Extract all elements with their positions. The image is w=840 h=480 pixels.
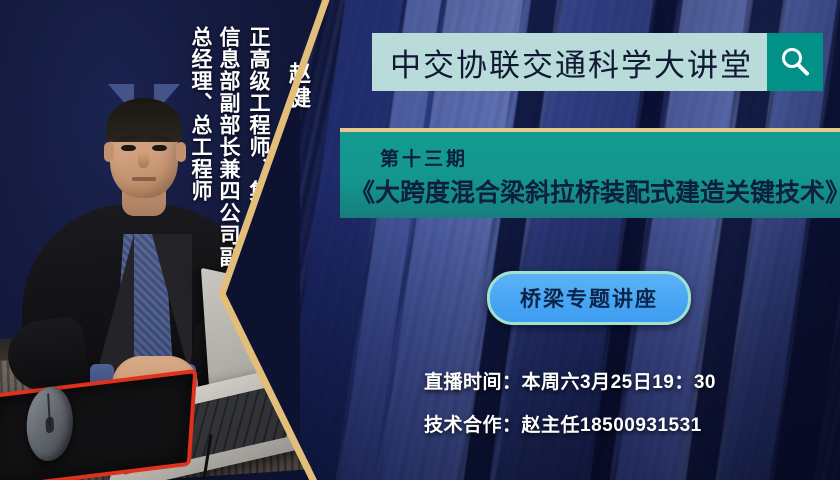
lecture-title-bar: 中交协联交通科学大讲堂 — [372, 33, 823, 91]
lecture-subtitle-box: 第十三期 《大跨度混合梁斜拉桥装配式建造关键技术》 — [340, 128, 840, 218]
mouse-wheel-icon — [45, 416, 54, 434]
ear-left — [104, 142, 114, 162]
lecture-poster: 总经理、总工程师 信息部副部长兼四公司副 正高级工程师、集团科技 赵健 中交协联… — [0, 0, 840, 480]
speaker-title-line-1: 正高级工程师、集团科技 — [243, 26, 273, 268]
nose — [138, 152, 149, 168]
search-icon[interactable] — [767, 33, 823, 91]
mouth — [132, 177, 156, 181]
speaker-name: 赵健 — [282, 62, 314, 110]
eye-left — [121, 145, 136, 151]
speaker-panel: 总经理、总工程师 信息部副部长兼四公司副 正高级工程师、集团科技 — [0, 0, 318, 480]
contact-text: 技术合作：赵主任18500931531 — [424, 410, 702, 437]
computer-mouse — [25, 382, 75, 466]
live-time-text: 直播时间：本周六3月25日19：30 — [424, 367, 716, 394]
lecture-title: 中交协联交通科学大讲堂 — [372, 33, 767, 91]
eye-right — [152, 145, 167, 151]
speaker-title-line-3: 总经理、总工程师 — [185, 26, 215, 202]
lecture-issue-number: 第十三期 — [380, 144, 840, 171]
lecture-topic: 《大跨度混合梁斜拉桥装配式建造关键技术》 — [350, 173, 840, 209]
topic-badge[interactable]: 桥梁专题讲座 — [487, 271, 691, 325]
speaker-title-line-2: 信息部副部长兼四公司副 — [213, 26, 243, 268]
